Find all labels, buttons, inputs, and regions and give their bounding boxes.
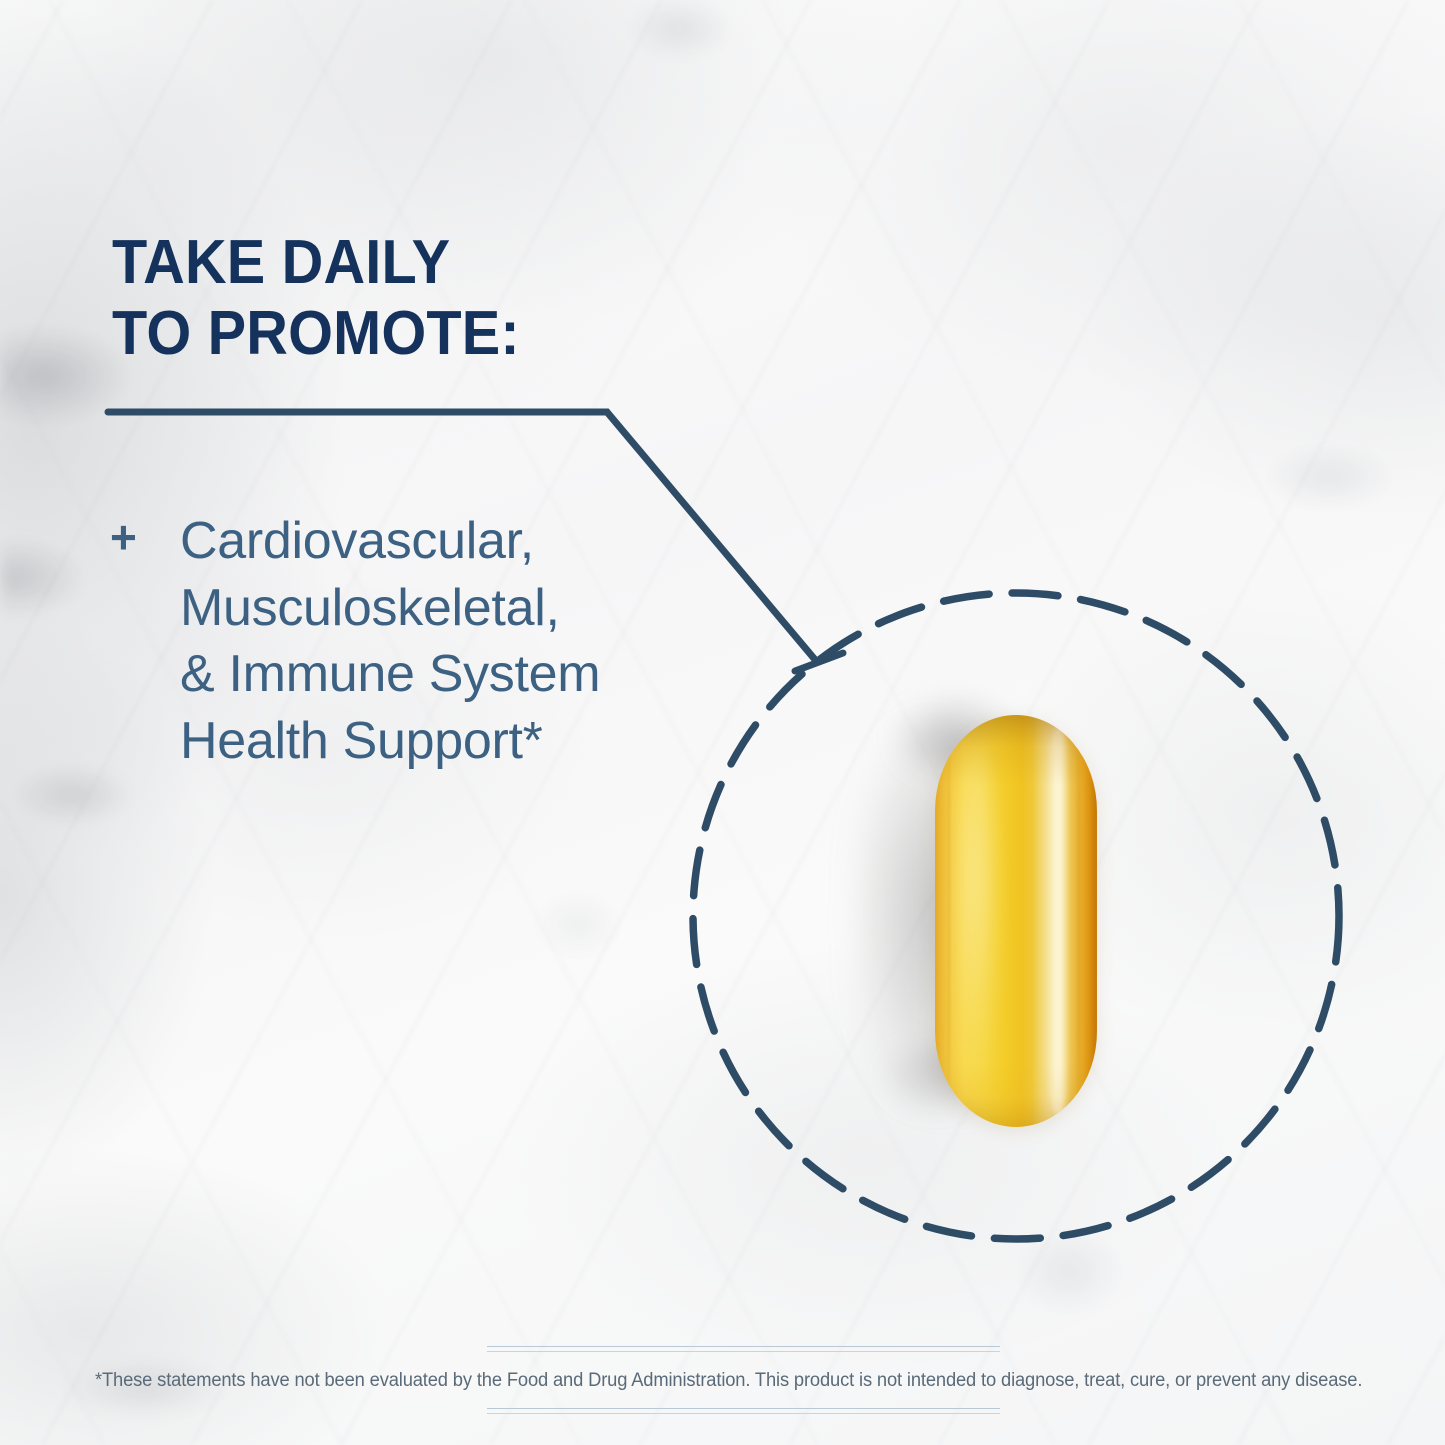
benefit-text: Cardiovascular, Musculoskeletal, & Immun… (180, 508, 600, 774)
capsule-seam-right (1078, 731, 1080, 1110)
capsule-specular-highlight (954, 748, 1003, 1086)
page-title: TAKE DAILY TO PROMOTE: (112, 228, 819, 369)
capsule-top-rim (935, 715, 1097, 785)
footer-divider-top (487, 1346, 1000, 1352)
plus-icon: + (110, 508, 180, 560)
capsule-gloss-band (1048, 727, 1069, 1114)
disclaimer-text: *These statements have not been evaluate… (95, 1368, 1316, 1394)
product-infographic: TAKE DAILY TO PROMOTE: + Cardiovascular,… (0, 0, 1445, 1445)
list-item: + Cardiovascular, Musculoskeletal, & Imm… (110, 508, 750, 774)
softgel-capsule (845, 690, 1125, 1160)
footer-divider-bottom (487, 1408, 1000, 1414)
benefits-list: + Cardiovascular, Musculoskeletal, & Imm… (110, 508, 750, 774)
capsule-body (935, 715, 1097, 1127)
capsule-seam-left (948, 731, 950, 1110)
capsule-bottom-rim (935, 1065, 1097, 1127)
